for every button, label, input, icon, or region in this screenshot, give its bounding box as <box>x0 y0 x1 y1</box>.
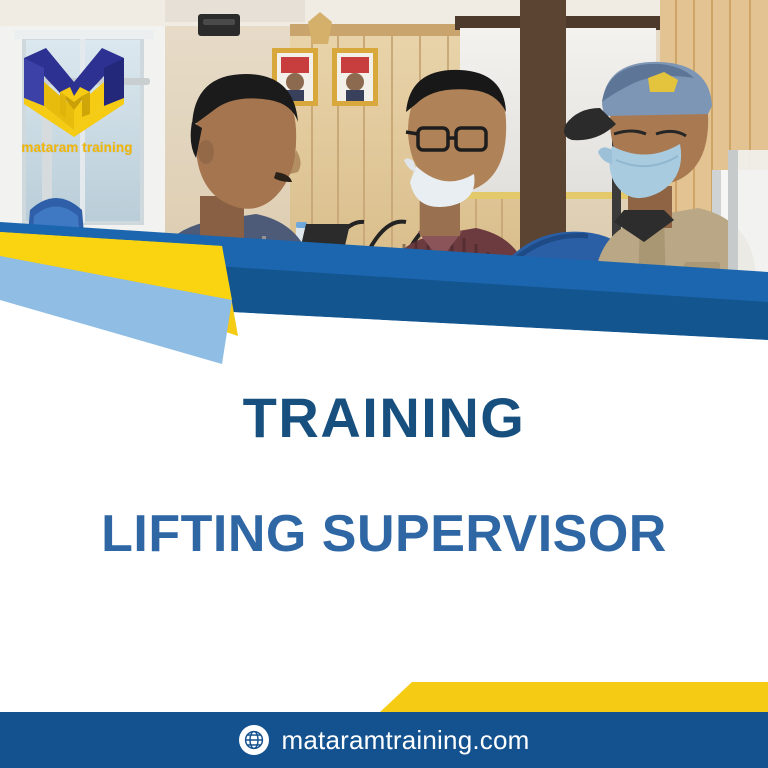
footer-content: mataramtraining.com <box>239 725 530 756</box>
mataram-m-logo-icon <box>20 42 128 137</box>
headline-block: TRAINING LIFTING SUPERVISOR <box>0 390 768 446</box>
brand-logo-text: mataram training <box>14 140 140 155</box>
page-title: TRAINING <box>0 390 768 446</box>
poster-canvas: mataram training TRAINING LIFTING SUPERV… <box>0 0 768 768</box>
footer-website-url[interactable]: mataramtraining.com <box>282 725 530 756</box>
page-subtitle: LIFTING SUPERVISOR <box>0 508 768 560</box>
band-yellow-footer-accent <box>380 682 768 712</box>
brand-logo: mataram training <box>14 42 134 172</box>
globe-icon <box>239 725 269 755</box>
footer-bar: mataramtraining.com <box>0 712 768 768</box>
